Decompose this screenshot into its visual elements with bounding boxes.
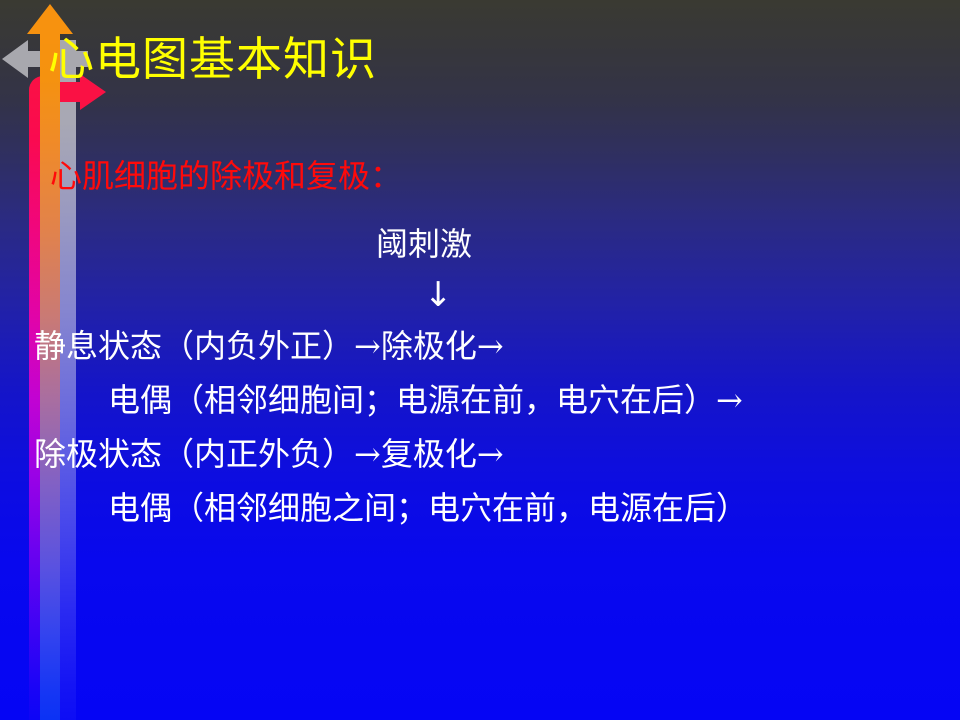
body-line-couple-two: 电偶（相邻细胞之间；电穴在前，电源在后） [108,492,748,524]
section-subtitle: 心肌细胞的除极和复极： [50,160,402,192]
body-line-couple-one: 电偶（相邻细胞间；电源在前，电穴在后）→ [108,384,743,416]
body-line-depolarized-state: 除极状态（内正外负）→复极化→ [34,438,504,470]
slide-canvas: 心电图基本知识 心肌细胞的除极和复极： 阈刺激 ↓ 静息状态（内负外正）→除极化… [0,0,960,720]
orange-arrow-shaft [40,22,60,720]
body-line-resting-state: 静息状态（内负外正）→除极化→ [34,330,504,362]
down-arrow-icon: ↓ [424,278,453,312]
body-line-stimulus: 阈刺激 [376,228,472,260]
page-title: 心电图基本知识 [48,36,377,82]
